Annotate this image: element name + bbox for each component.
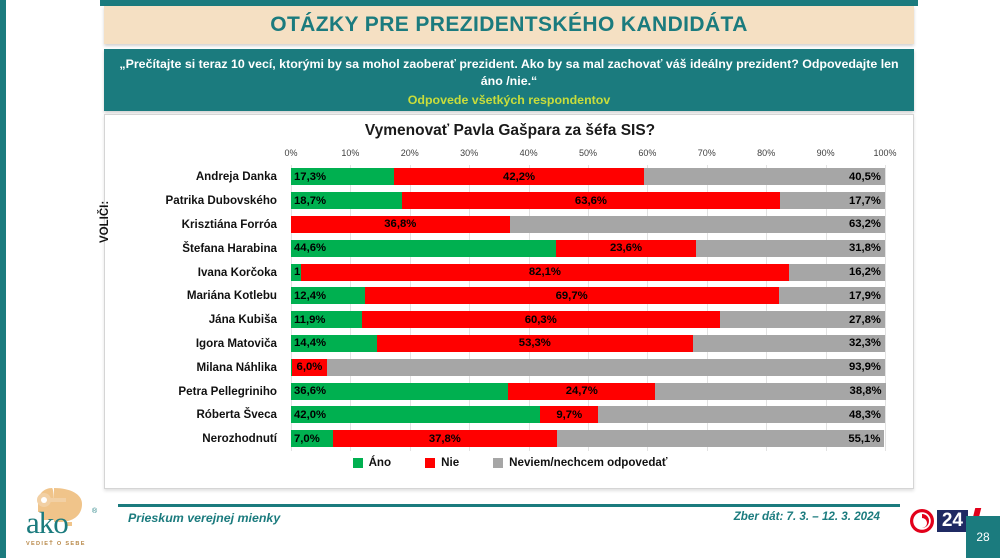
bar-value-label: 9,7% bbox=[556, 409, 582, 421]
footer-date: Zber dát: 7. 3. – 12. 3. 2024 bbox=[734, 510, 880, 523]
category-label: Andreja Danka bbox=[105, 170, 285, 183]
bar-segment-ano[interactable]: 44,6% bbox=[291, 240, 556, 257]
category-label: Róberta Šveca bbox=[105, 408, 285, 421]
category-label: Milana Náhlika bbox=[105, 361, 285, 374]
slide-root: OTÁZKY PRE PREZIDENTSKÉHO KANDIDÁTA „Pre… bbox=[0, 0, 1000, 558]
bar-value-label: 69,7% bbox=[556, 290, 588, 302]
ako-tagline: VEDIEŤ O SEBE bbox=[26, 541, 86, 547]
legend-label: Nie bbox=[441, 456, 459, 469]
chart-row: Nerozhodnutí7,0%37,8%55,1% bbox=[105, 427, 915, 451]
bar-track: 36,6%24,7%38,8% bbox=[291, 383, 885, 400]
ako-registered-mark: ® bbox=[92, 508, 97, 515]
bar-track: 7,0%37,8%55,1% bbox=[291, 430, 885, 447]
bar-value-label: 53,3% bbox=[519, 337, 551, 349]
page-title: OTÁZKY PRE PREZIDENTSKÉHO KANDIDÁTA bbox=[270, 13, 748, 37]
bar-segment-ano[interactable]: 36,6% bbox=[291, 383, 508, 400]
chart-rows: Andreja Danka17,3%42,2%40,5%Patrika Dubo… bbox=[105, 165, 915, 451]
x-tick-0: 0% bbox=[284, 148, 297, 158]
bar-track: 0,1%6,0%93,9% bbox=[291, 359, 885, 376]
bar-segment-ano[interactable]: 12,4% bbox=[291, 287, 365, 304]
chart-row: Petra Pellegriniho36,6%24,7%38,8% bbox=[105, 379, 915, 403]
chart-row: Mariána Kotlebu12,4%69,7%17,9% bbox=[105, 284, 915, 308]
bar-value-label: 40,5% bbox=[849, 171, 881, 183]
x-tick-4: 40% bbox=[520, 148, 538, 158]
bar-value-label: 27,8% bbox=[849, 314, 881, 326]
bar-value-label: 93,9% bbox=[849, 361, 881, 373]
category-label: Mariána Kotlebu bbox=[105, 289, 285, 302]
bar-segment-nie[interactable]: 9,7% bbox=[540, 406, 598, 423]
bar-segment-ano[interactable]: 18,7% bbox=[291, 192, 402, 209]
bar-track: 12,4%69,7%17,9% bbox=[291, 287, 885, 304]
x-tick-9: 90% bbox=[817, 148, 835, 158]
bar-segment-ano[interactable]: 17,3% bbox=[291, 168, 394, 185]
bar-track: 1,7%82,1%16,2% bbox=[291, 264, 885, 281]
bar-segment-nie[interactable]: 60,3% bbox=[362, 311, 720, 328]
chart-title: Vymenovať Pavla Gašpara za šéfa SIS? bbox=[105, 122, 915, 140]
bar-track: 18,7%63,6%17,7% bbox=[291, 192, 885, 209]
bar-track: 14,4%53,3%32,3% bbox=[291, 335, 885, 352]
x-tick-3: 30% bbox=[460, 148, 478, 158]
bar-value-label: 42,2% bbox=[503, 171, 535, 183]
bar-value-label: 12,4% bbox=[294, 290, 326, 302]
x-tick-8: 80% bbox=[757, 148, 775, 158]
bar-value-label: 6,0% bbox=[297, 361, 323, 373]
legend-item-2[interactable]: Neviem/nechcem odpovedať bbox=[493, 456, 667, 469]
question-text: „Prečítajte si teraz 10 vecí, ktorými by… bbox=[118, 56, 900, 90]
bar-segment-ano[interactable]: 1,7% bbox=[291, 264, 301, 281]
bar-value-label: 37,8% bbox=[429, 433, 461, 445]
x-axis-ticks: 0%10%20%30%40%50%60%70%80%90%100% bbox=[105, 148, 915, 162]
bar-value-label: 55,1% bbox=[848, 433, 880, 445]
bar-segment-ano[interactable]: 11,9% bbox=[291, 311, 362, 328]
bar-segment-nie[interactable]: 42,2% bbox=[394, 168, 645, 185]
bar-segment-neviem[interactable]: 17,9% bbox=[779, 287, 885, 304]
category-label: Igora Matoviča bbox=[105, 337, 285, 350]
bar-track: 42,0%9,7%48,3% bbox=[291, 406, 885, 423]
ako-logo: ako ® VEDIEŤ O SEBE bbox=[14, 486, 110, 554]
legend-label: Neviem/nechcem odpovedať bbox=[509, 456, 667, 469]
bar-value-label: 36,6% bbox=[294, 385, 326, 397]
bar-segment-nie[interactable]: 37,8% bbox=[333, 430, 558, 447]
x-tick-7: 70% bbox=[698, 148, 716, 158]
bar-segment-ano[interactable]: 42,0% bbox=[291, 406, 540, 423]
category-label: Krisztiána Forróa bbox=[105, 218, 285, 231]
bar-segment-neviem[interactable]: 16,2% bbox=[789, 264, 885, 281]
bar-value-label: 31,8% bbox=[849, 242, 881, 254]
legend-item-1[interactable]: Nie bbox=[425, 456, 459, 469]
footer-divider bbox=[118, 504, 900, 507]
bar-segment-neviem[interactable]: 55,1% bbox=[557, 430, 884, 447]
legend-label: Áno bbox=[369, 456, 392, 469]
legend-swatch-icon bbox=[493, 458, 503, 468]
bar-value-label: 63,6% bbox=[575, 195, 607, 207]
bar-value-label: 36,8% bbox=[384, 218, 416, 230]
bar-value-label: 18,7% bbox=[294, 195, 326, 207]
bar-segment-ano[interactable]: 14,4% bbox=[291, 335, 377, 352]
bar-value-label: 24,7% bbox=[566, 385, 598, 397]
x-tick-6: 60% bbox=[638, 148, 656, 158]
bar-segment-nie[interactable]: 53,3% bbox=[377, 335, 694, 352]
bar-track: 17,3%42,2%40,5% bbox=[291, 168, 885, 185]
chart-row: Štefana Harabina44,6%23,6%31,8% bbox=[105, 236, 915, 260]
x-tick-10: 100% bbox=[873, 148, 896, 158]
legend-item-0[interactable]: Áno bbox=[353, 456, 392, 469]
bar-segment-nie[interactable]: 24,7% bbox=[508, 383, 655, 400]
chart-panel: Vymenovať Pavla Gašpara za šéfa SIS? 0%1… bbox=[104, 114, 914, 489]
chart-row: Ivana Korčoka1,7%82,1%16,2% bbox=[105, 260, 915, 284]
slide-title-banner: OTÁZKY PRE PREZIDENTSKÉHO KANDIDÁTA bbox=[104, 6, 914, 44]
bar-value-label: 60,3% bbox=[525, 314, 557, 326]
bar-segment-neviem[interactable]: 63,2% bbox=[510, 216, 885, 233]
chart-row: Jána Kubiša11,9%60,3%27,8% bbox=[105, 308, 915, 332]
bar-value-label: 16,2% bbox=[849, 266, 881, 278]
category-label: Ivana Korčoka bbox=[105, 266, 285, 279]
bar-value-label: 7,0% bbox=[294, 433, 320, 445]
bar-track: 0,0%36,8%63,2% bbox=[291, 216, 885, 233]
bar-value-label: 42,0% bbox=[294, 409, 326, 421]
bar-value-label: 17,9% bbox=[849, 290, 881, 302]
category-label: Jána Kubiša bbox=[105, 313, 285, 326]
question-subtitle: Odpovede všetkých respondentov bbox=[118, 93, 900, 107]
legend-swatch-icon bbox=[425, 458, 435, 468]
bar-track: 11,9%60,3%27,8% bbox=[291, 311, 885, 328]
chart-row: Milana Náhlika0,1%6,0%93,9% bbox=[105, 355, 915, 379]
bar-segment-nie[interactable]: 23,6% bbox=[556, 240, 696, 257]
category-label: Nerozhodnutí bbox=[105, 432, 285, 445]
question-block: „Prečítajte si teraz 10 vecí, ktorými by… bbox=[104, 49, 914, 111]
chart-legend: ÁnoNieNeviem/nechcem odpovedať bbox=[105, 456, 915, 469]
bar-value-label: 63,2% bbox=[849, 218, 881, 230]
bar-segment-nie[interactable]: 82,1% bbox=[301, 264, 789, 281]
bar-segment-nie[interactable]: 6,0% bbox=[292, 359, 328, 376]
bar-value-label: 23,6% bbox=[610, 242, 642, 254]
left-teal-spine bbox=[0, 0, 6, 558]
bar-segment-nie[interactable]: 36,8% bbox=[291, 216, 510, 233]
bar-segment-neviem[interactable]: 93,9% bbox=[327, 359, 885, 376]
ako-wordmark: ako bbox=[26, 507, 68, 538]
category-label: Patrika Dubovského bbox=[105, 194, 285, 207]
bar-segment-ano[interactable]: 7,0% bbox=[291, 430, 333, 447]
bar-track: 44,6%23,6%31,8% bbox=[291, 240, 885, 257]
bar-segment-neviem[interactable]: 27,8% bbox=[720, 311, 885, 328]
bar-segment-neviem[interactable]: 17,7% bbox=[780, 192, 885, 209]
bar-segment-nie[interactable]: 63,6% bbox=[402, 192, 780, 209]
chart-row: Róberta Šveca42,0%9,7%48,3% bbox=[105, 403, 915, 427]
bar-value-label: 17,3% bbox=[294, 171, 326, 183]
bar-value-label: 17,7% bbox=[849, 195, 881, 207]
x-tick-1: 10% bbox=[341, 148, 359, 158]
bar-value-label: 14,4% bbox=[294, 337, 326, 349]
bar-segment-neviem[interactable]: 31,8% bbox=[696, 240, 885, 257]
chart-row: Patrika Dubovského18,7%63,6%17,7% bbox=[105, 189, 915, 213]
x-tick-5: 50% bbox=[579, 148, 597, 158]
bar-segment-nie[interactable]: 69,7% bbox=[365, 287, 779, 304]
legend-swatch-icon bbox=[353, 458, 363, 468]
bar-segment-neviem[interactable]: 40,5% bbox=[644, 168, 885, 185]
page-number: 28 bbox=[966, 516, 1000, 558]
bar-value-label: 48,3% bbox=[849, 409, 881, 421]
channel-number: 24 bbox=[937, 510, 968, 532]
bar-segment-neviem[interactable]: 48,3% bbox=[598, 406, 885, 423]
bar-segment-neviem[interactable]: 32,3% bbox=[693, 335, 885, 352]
category-label: Petra Pellegriniho bbox=[105, 385, 285, 398]
x-tick-2: 20% bbox=[401, 148, 419, 158]
spiral-icon bbox=[909, 508, 935, 534]
category-label: Štefana Harabina bbox=[105, 242, 285, 255]
bar-value-label: 11,9% bbox=[294, 314, 325, 326]
bar-value-label: 44,6% bbox=[294, 242, 326, 254]
bar-value-label: 38,8% bbox=[850, 385, 882, 397]
chart-row: Igora Matoviča14,4%53,3%32,3% bbox=[105, 332, 915, 356]
bar-segment-neviem[interactable]: 38,8% bbox=[655, 383, 885, 400]
chart-row: Krisztiána Forróa0,0%36,8%63,2% bbox=[105, 213, 915, 237]
bar-value-label: 82,1% bbox=[529, 266, 561, 278]
chart-row: Andreja Danka17,3%42,2%40,5% bbox=[105, 165, 915, 189]
footer-tagline: Prieskum verejnej mienky bbox=[128, 511, 280, 525]
bar-value-label: 32,3% bbox=[849, 337, 881, 349]
